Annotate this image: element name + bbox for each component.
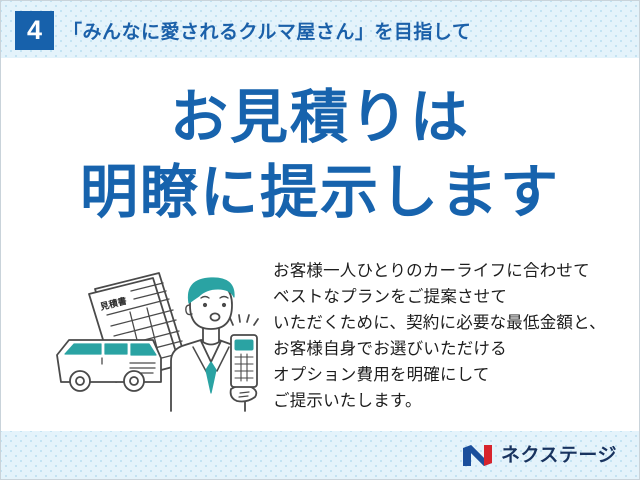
body-copy: お客様一人ひとりのカーライフに合わせて ベストなプランをご提案させて いただくた… xyxy=(273,258,606,414)
body-copy-line: お客様一人ひとりのカーライフに合わせて xyxy=(273,258,606,284)
advertisement-page: 4 「みんなに愛されるクルマ屋さん」を目指して お見積りは 明瞭に提示します お… xyxy=(0,0,640,480)
brand-logo: ネクステージ xyxy=(462,444,617,467)
step-number-badge: 4 xyxy=(15,11,54,50)
calculator-icon xyxy=(231,335,257,387)
body-copy-line: ベストなプランをご提案させて xyxy=(273,284,606,310)
headline-line-2: 明瞭に提示します xyxy=(1,164,639,222)
headline-line-1: お見積りは xyxy=(1,89,639,147)
sales-staff-illustration: 見積書 xyxy=(35,263,267,423)
brand-name: ネクステージ xyxy=(501,446,617,465)
van-illustration xyxy=(57,340,161,391)
sparkle-icon xyxy=(230,315,258,325)
body-copy-line: お客様自身でお選びいただける xyxy=(273,336,606,362)
header-title: 「みんなに愛されるクルマ屋さん」を目指して xyxy=(63,17,471,44)
body-copy-line: いただくために、契約に必要な最低金額と、 xyxy=(273,310,606,336)
body-copy-line: ご提示いたします。 xyxy=(273,388,606,414)
illustration-svg: 見積書 xyxy=(35,263,267,423)
body-copy-line: オプション費用を明確にして xyxy=(273,362,606,388)
nextage-n-mark-icon xyxy=(462,444,494,467)
